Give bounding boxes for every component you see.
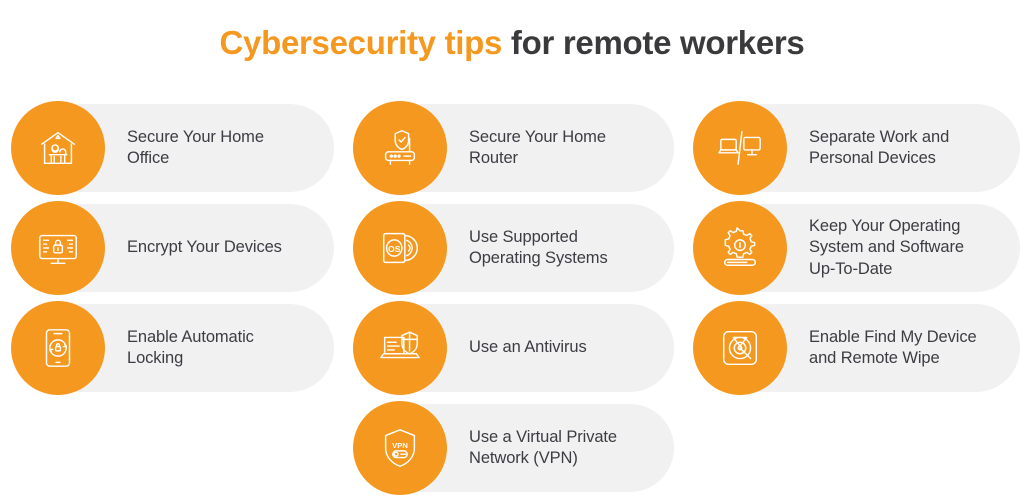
phone-lock-icon bbox=[11, 301, 105, 395]
radar-target-icon bbox=[693, 301, 787, 395]
svg-text:OS: OS bbox=[388, 244, 401, 254]
os-disc-icon: OS bbox=[353, 201, 447, 295]
tip-card-keep-updated[interactable]: Keep Your Operating System and Software … bbox=[696, 204, 1020, 292]
tip-card-use-vpn[interactable]: VPNUse a Virtual Private Network (VPN) bbox=[356, 404, 674, 492]
tip-card-label: Enable Automatic Locking bbox=[127, 327, 254, 370]
tip-card-find-my-device[interactable]: Enable Find My Device and Remote Wipe bbox=[696, 304, 1020, 392]
laptop-slash-monitor-icon bbox=[693, 101, 787, 195]
tip-card-label: Secure Your Home Router bbox=[469, 127, 606, 170]
tip-card-automatic-locking[interactable]: Enable Automatic Locking bbox=[14, 304, 334, 392]
page-title-rest: for remote workers bbox=[502, 24, 804, 61]
vpn-shield-icon: VPN bbox=[353, 401, 447, 495]
laptop-shield-icon bbox=[353, 301, 447, 395]
tip-card-secure-home-office[interactable]: Secure Your Home Office bbox=[14, 104, 334, 192]
page-title: Cybersecurity tips for remote workers bbox=[0, 24, 1024, 62]
tip-card-label: Enable Find My Device and Remote Wipe bbox=[809, 327, 977, 370]
tip-card-label: Keep Your Operating System and Software … bbox=[809, 216, 964, 280]
monitor-lock-icon bbox=[11, 201, 105, 295]
tip-card-use-antivirus[interactable]: Use an Antivirus bbox=[356, 304, 674, 392]
tip-card-separate-devices[interactable]: Separate Work and Personal Devices bbox=[696, 104, 1020, 192]
router-shield-icon bbox=[353, 101, 447, 195]
page-title-accent: Cybersecurity tips bbox=[220, 24, 503, 61]
tip-card-label: Encrypt Your Devices bbox=[127, 237, 282, 258]
tip-card-label: Use an Antivirus bbox=[469, 337, 587, 358]
tip-card-secure-home-router[interactable]: Secure Your Home Router bbox=[356, 104, 674, 192]
tip-card-label: Secure Your Home Office bbox=[127, 127, 264, 170]
tips-grid: Secure Your Home Office Secure Your Home… bbox=[0, 100, 1024, 500]
house-desk-icon bbox=[11, 101, 105, 195]
tip-card-label: Use Supported Operating Systems bbox=[469, 227, 608, 270]
tip-card-label: Use a Virtual Private Network (VPN) bbox=[469, 427, 617, 470]
tip-card-supported-os[interactable]: OSUse Supported Operating Systems bbox=[356, 204, 674, 292]
tip-card-label: Separate Work and Personal Devices bbox=[809, 127, 949, 170]
gear-progress-icon bbox=[693, 201, 787, 295]
svg-text:VPN: VPN bbox=[392, 441, 408, 450]
tip-card-encrypt-devices[interactable]: Encrypt Your Devices bbox=[14, 204, 334, 292]
